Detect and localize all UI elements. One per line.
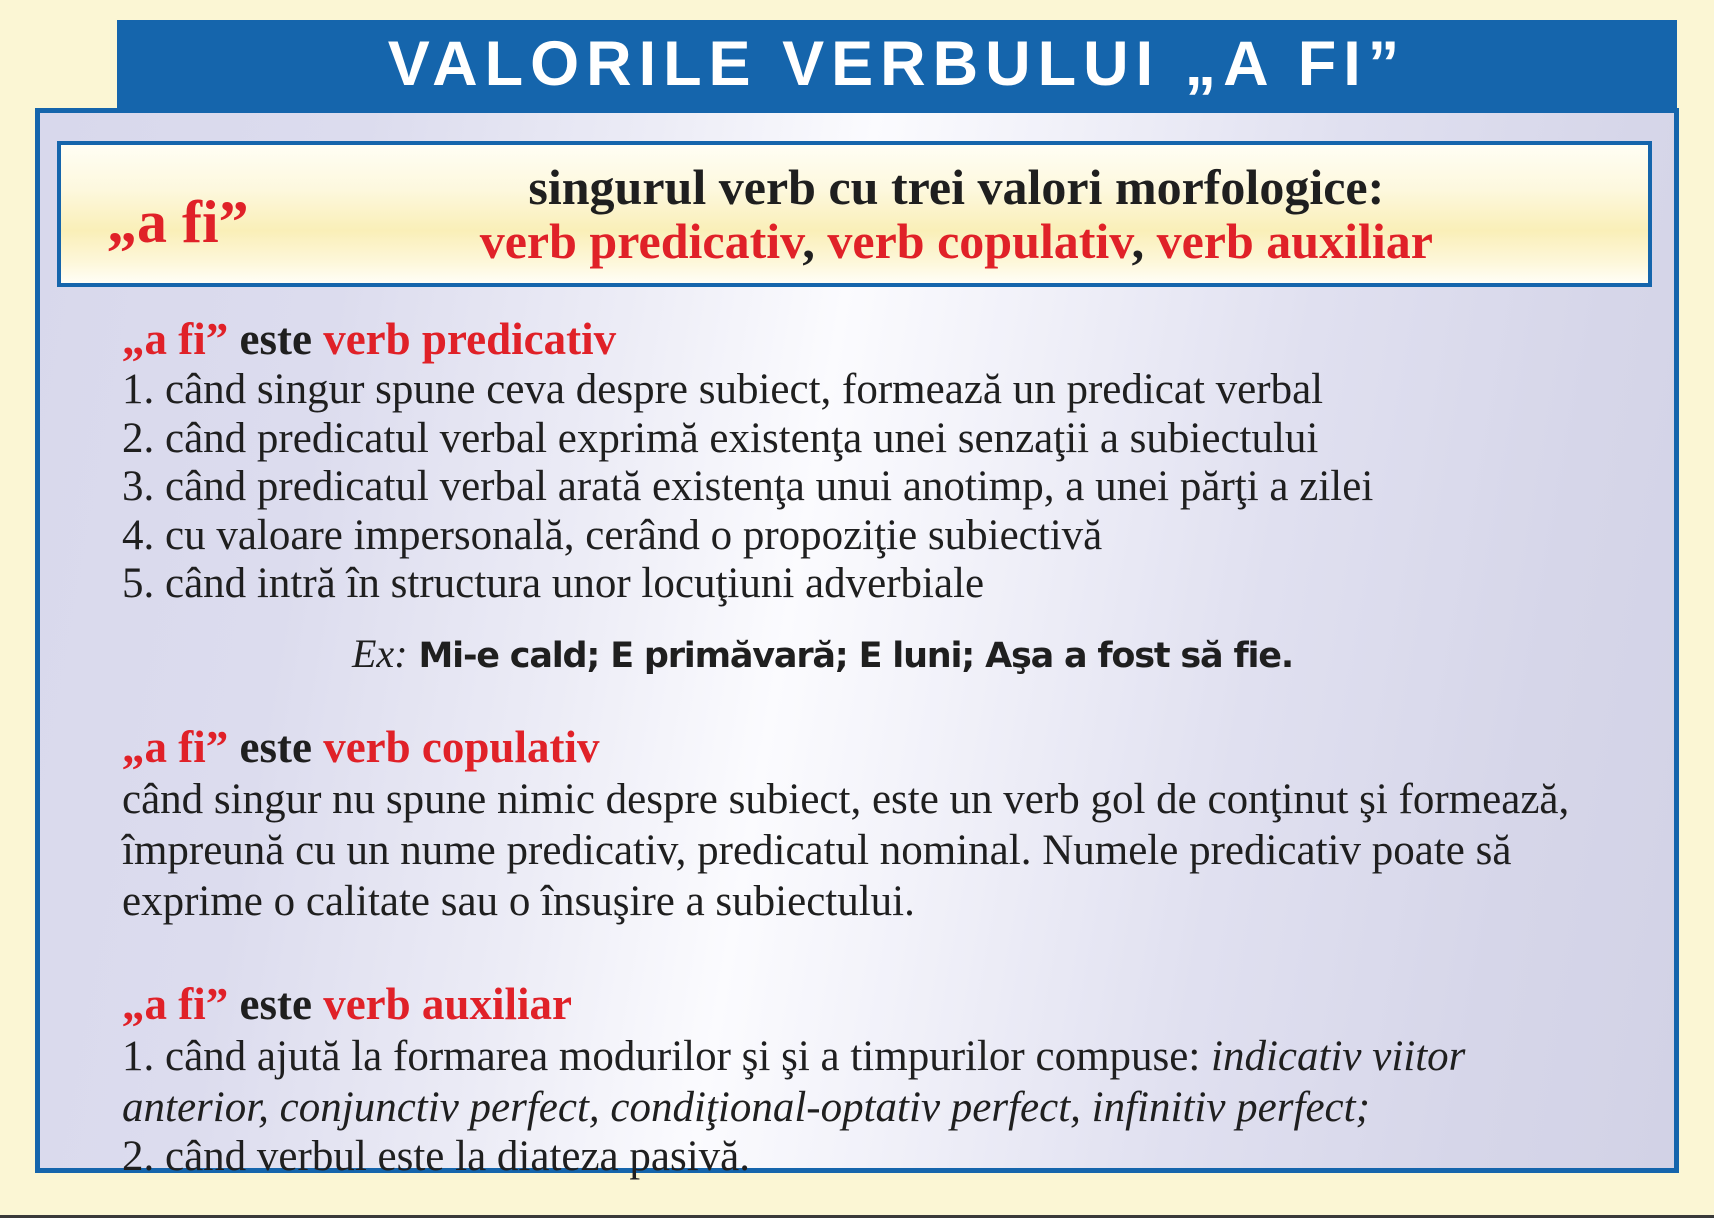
definition-line-1: singurul verb cu trei valori morfologice… — [279, 160, 1634, 214]
example-line: Ex: Mi-e cald; E primăvară; E luni; Aşa … — [122, 631, 1622, 677]
example-label: Ex: — [352, 631, 408, 676]
definition-line-2: verb predicativ, verb copulativ, verb au… — [279, 214, 1634, 268]
definition-separator-0: , — [802, 213, 827, 269]
definition-box: „a fi” singurul verb cu trei valori morf… — [57, 141, 1652, 287]
list-item: 5. când intră în structura unor locuţiun… — [122, 560, 1622, 609]
heading-verb: este — [240, 722, 312, 772]
list-item: 2. când verbul este la diateza pasivă. — [122, 1133, 1622, 1182]
content-panel: „a fi” singurul verb cu trei valori morf… — [35, 108, 1679, 1173]
page-title: VALORILE VERBULUI „A FI” — [388, 33, 1407, 96]
section-verb-auxiliar: „a fi” este verb auxiliar 1. când ajută … — [122, 978, 1622, 1182]
heading-verb: este — [240, 314, 312, 364]
definition-separator-1: , — [1132, 213, 1157, 269]
definition-value-2: verb auxiliar — [1157, 213, 1433, 269]
heading-verb: este — [240, 979, 312, 1029]
definition-term: „a fi” — [107, 192, 279, 252]
heading-value: verb predicativ — [323, 314, 616, 364]
list-item: 4. cu valoare impersonală, cerând o prop… — [122, 512, 1622, 561]
definition-value-1: verb copulativ — [827, 213, 1131, 269]
heading-value: verb copulativ — [323, 722, 599, 772]
list-item: 2. când predicatul verbal exprimă existe… — [122, 415, 1622, 464]
heading-term: „a fi” — [122, 722, 228, 772]
heading-term: „a fi” — [122, 314, 228, 364]
definition-text: singurul verb cu trei valori morfologice… — [279, 160, 1634, 268]
section-heading-auxiliar: „a fi” este verb auxiliar — [122, 978, 1622, 1031]
definition-value-0: verb predicativ — [480, 213, 803, 269]
list-item: 3. când predicatul verbal arată existenţ… — [122, 463, 1622, 512]
section-verb-predicativ: „a fi” este verb predicativ 1. când sing… — [122, 313, 1622, 677]
list-item: 1. când singur spune ceva despre subiect… — [122, 366, 1622, 415]
example-text: Mi-e cald; E primăvară; E luni; Aşa a fo… — [419, 636, 1293, 676]
list-item: 1. când ajută la formarea modurilor şi ş… — [122, 1031, 1622, 1133]
title-banner: VALORILE VERBULUI „A FI” — [117, 20, 1677, 108]
content-body: „a fi” este verb predicativ 1. când sing… — [122, 313, 1622, 1182]
heading-value: verb auxiliar — [323, 979, 572, 1029]
section-heading-predicativ: „a fi” este verb predicativ — [122, 313, 1622, 366]
section-paragraph: când singur nu spune nimic despre subiec… — [122, 774, 1622, 927]
section-verb-copulativ: „a fi” este verb copulativ când singur n… — [122, 721, 1622, 928]
heading-term: „a fi” — [122, 979, 228, 1029]
list-item-plain: 1. când ajută la formarea modurilor şi ş… — [122, 1033, 1211, 1080]
section-heading-copulativ: „a fi” este verb copulativ — [122, 721, 1622, 774]
poster-page: VALORILE VERBULUI „A FI” „a fi” singurul… — [0, 0, 1714, 1218]
